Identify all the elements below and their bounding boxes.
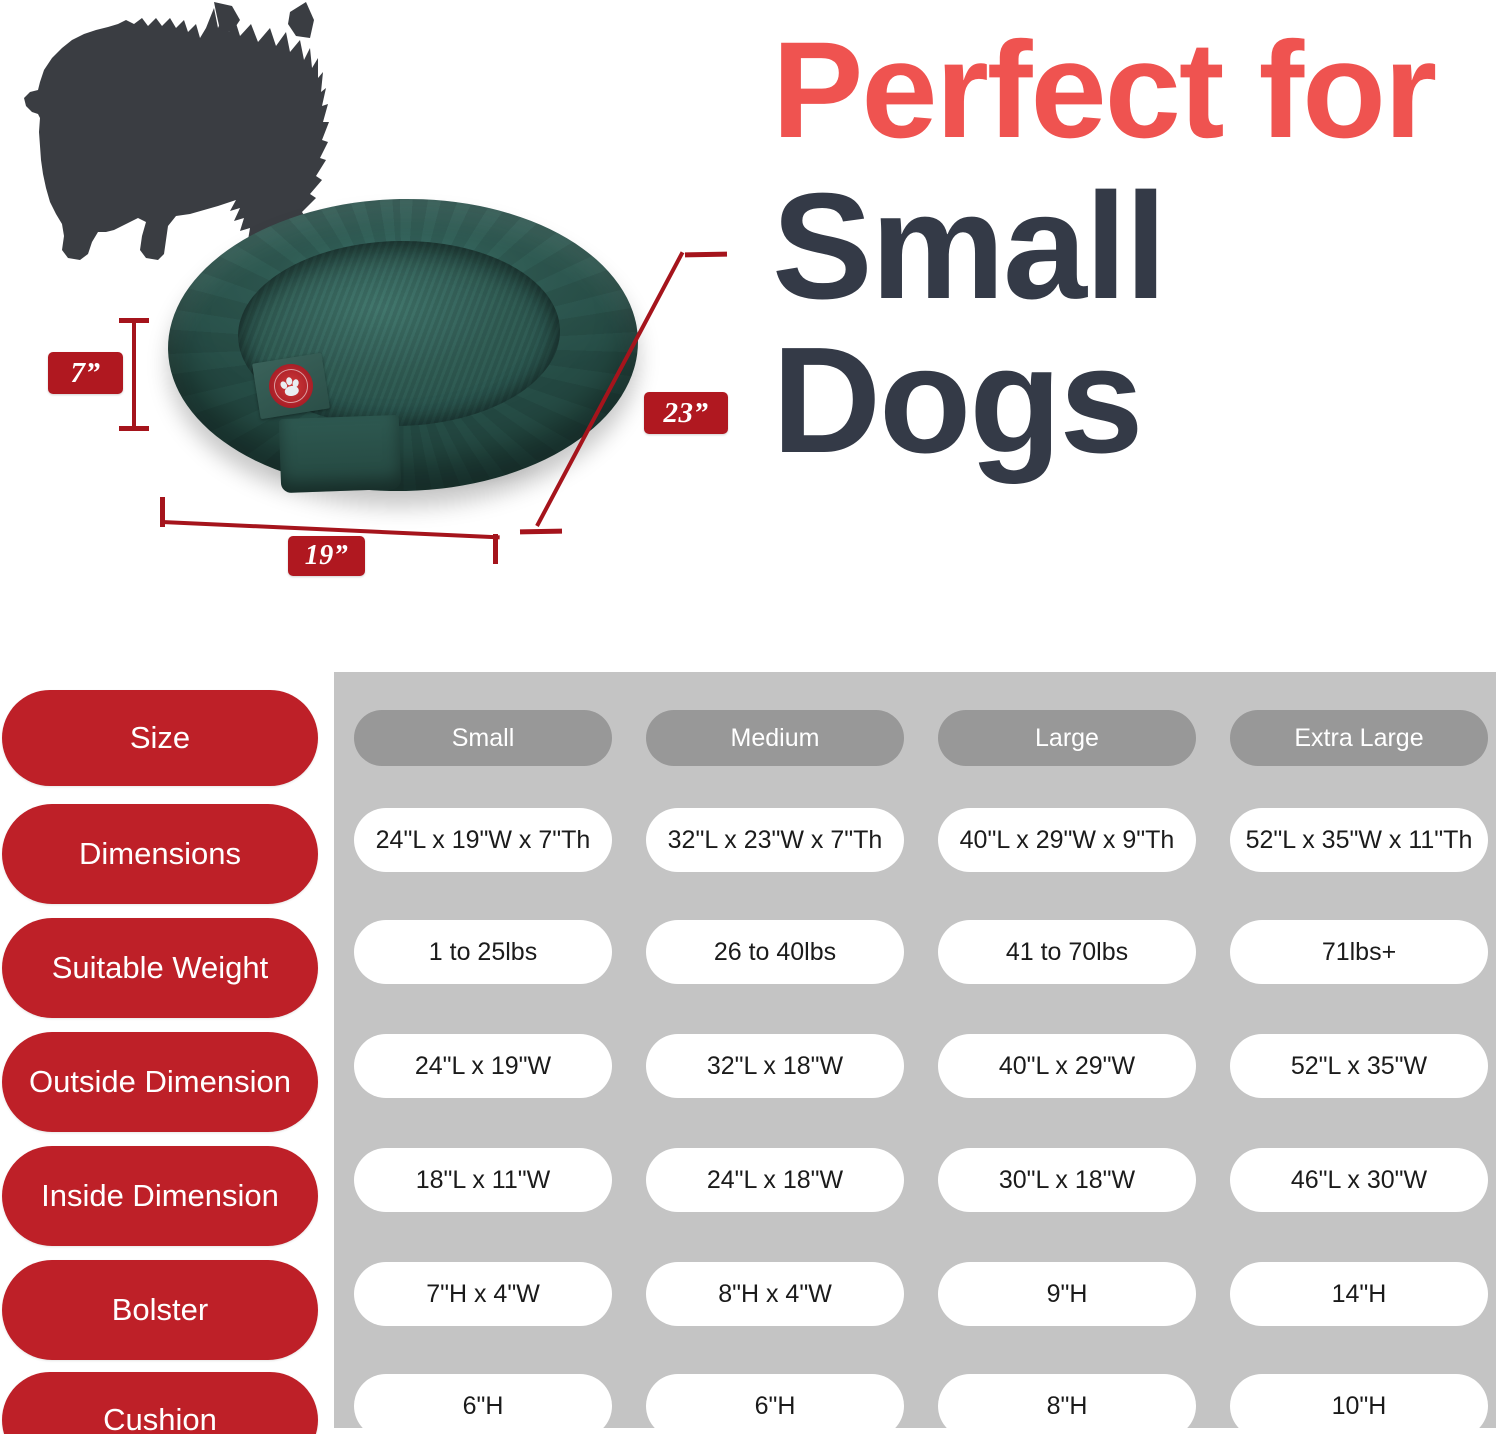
table-cell: 40"L x 29"W xyxy=(938,1034,1196,1098)
dimension-badge-height: 7” xyxy=(48,352,123,394)
dimension-badge-width: 19” xyxy=(288,536,365,576)
length-measure-top-tick xyxy=(685,252,727,258)
table-cell: 52"L x 35"W x 11"Th xyxy=(1230,808,1488,872)
table-cell: 71lbs+ xyxy=(1230,920,1488,984)
table-cell: 26 to 40lbs xyxy=(646,920,904,984)
table-cell: 10"H xyxy=(1230,1374,1488,1434)
table-cell: 6"H xyxy=(646,1374,904,1434)
table-cell: 7"H x 4"W xyxy=(354,1262,612,1326)
column-header-extra-large: Extra Large xyxy=(1230,710,1488,766)
table-cell: 1 to 25lbs xyxy=(354,920,612,984)
height-measure-bottom-tick xyxy=(119,426,149,431)
table-cell: 8"H xyxy=(938,1374,1196,1434)
table-cell: 6"H xyxy=(354,1374,612,1434)
table-cell: 41 to 70lbs xyxy=(938,920,1196,984)
headline-line-dogs: Dogs xyxy=(772,326,1492,474)
table-cell: 8"H x 4"W xyxy=(646,1262,904,1326)
row-label-outside-dimension: Outside Dimension xyxy=(2,1032,318,1132)
majestic-pet-paw-logo-icon xyxy=(266,361,316,411)
table-cell-grid: SmallMediumLargeExtra Large24"L x 19"W x… xyxy=(334,672,1496,1428)
brand-tag xyxy=(252,353,330,419)
row-label-cushion: Cushion xyxy=(2,1372,318,1434)
column-header-medium: Medium xyxy=(646,710,904,766)
width-measure-right-tick xyxy=(493,534,498,564)
bed-front-flap xyxy=(279,415,402,493)
row-label-inside-dimension: Inside Dimension xyxy=(2,1146,318,1246)
row-label-column: SizeDimensionsSuitable WeightOutside Dim… xyxy=(2,672,318,1428)
table-cell: 24"L x 18"W xyxy=(646,1148,904,1212)
table-cell: 40"L x 29"W x 9"Th xyxy=(938,808,1196,872)
row-label-suitable-weight: Suitable Weight xyxy=(2,918,318,1018)
column-header-small: Small xyxy=(354,710,612,766)
headline-line-small: Small xyxy=(772,172,1492,320)
headline-line-perfect-for: Perfect for xyxy=(772,24,1492,158)
height-measure-line xyxy=(132,320,136,430)
dimension-badge-length: 23” xyxy=(644,392,728,434)
length-measure-bottom-tick xyxy=(520,529,562,535)
table-cell: 46"L x 30"W xyxy=(1230,1148,1488,1212)
headline-block: Perfect for Small Dogs xyxy=(772,24,1492,474)
table-cell: 32"L x 23"W x 7"Th xyxy=(646,808,904,872)
table-cell: 32"L x 18"W xyxy=(646,1034,904,1098)
hero-section: 7” 19” 23” Perfect for Small Dogs xyxy=(0,0,1500,660)
row-label-bolster: Bolster xyxy=(2,1260,318,1360)
row-label-size: Size xyxy=(2,690,318,786)
column-header-large: Large xyxy=(938,710,1196,766)
product-image-dog-bed xyxy=(160,185,650,515)
table-cell: 24"L x 19"W xyxy=(354,1034,612,1098)
table-cell: 52"L x 35"W xyxy=(1230,1034,1488,1098)
table-cell: 30"L x 18"W xyxy=(938,1148,1196,1212)
table-cell: 14"H xyxy=(1230,1262,1488,1326)
table-cell: 9"H xyxy=(938,1262,1196,1326)
row-label-dimensions: Dimensions xyxy=(2,804,318,904)
table-cell: 24"L x 19"W x 7"Th xyxy=(354,808,612,872)
table-cell: 18"L x 11"W xyxy=(354,1148,612,1212)
specification-table: SizeDimensionsSuitable WeightOutside Dim… xyxy=(0,660,1500,1434)
product-size-chart-page: 7” 19” 23” Perfect for Small Dogs SizeDi… xyxy=(0,0,1500,1434)
